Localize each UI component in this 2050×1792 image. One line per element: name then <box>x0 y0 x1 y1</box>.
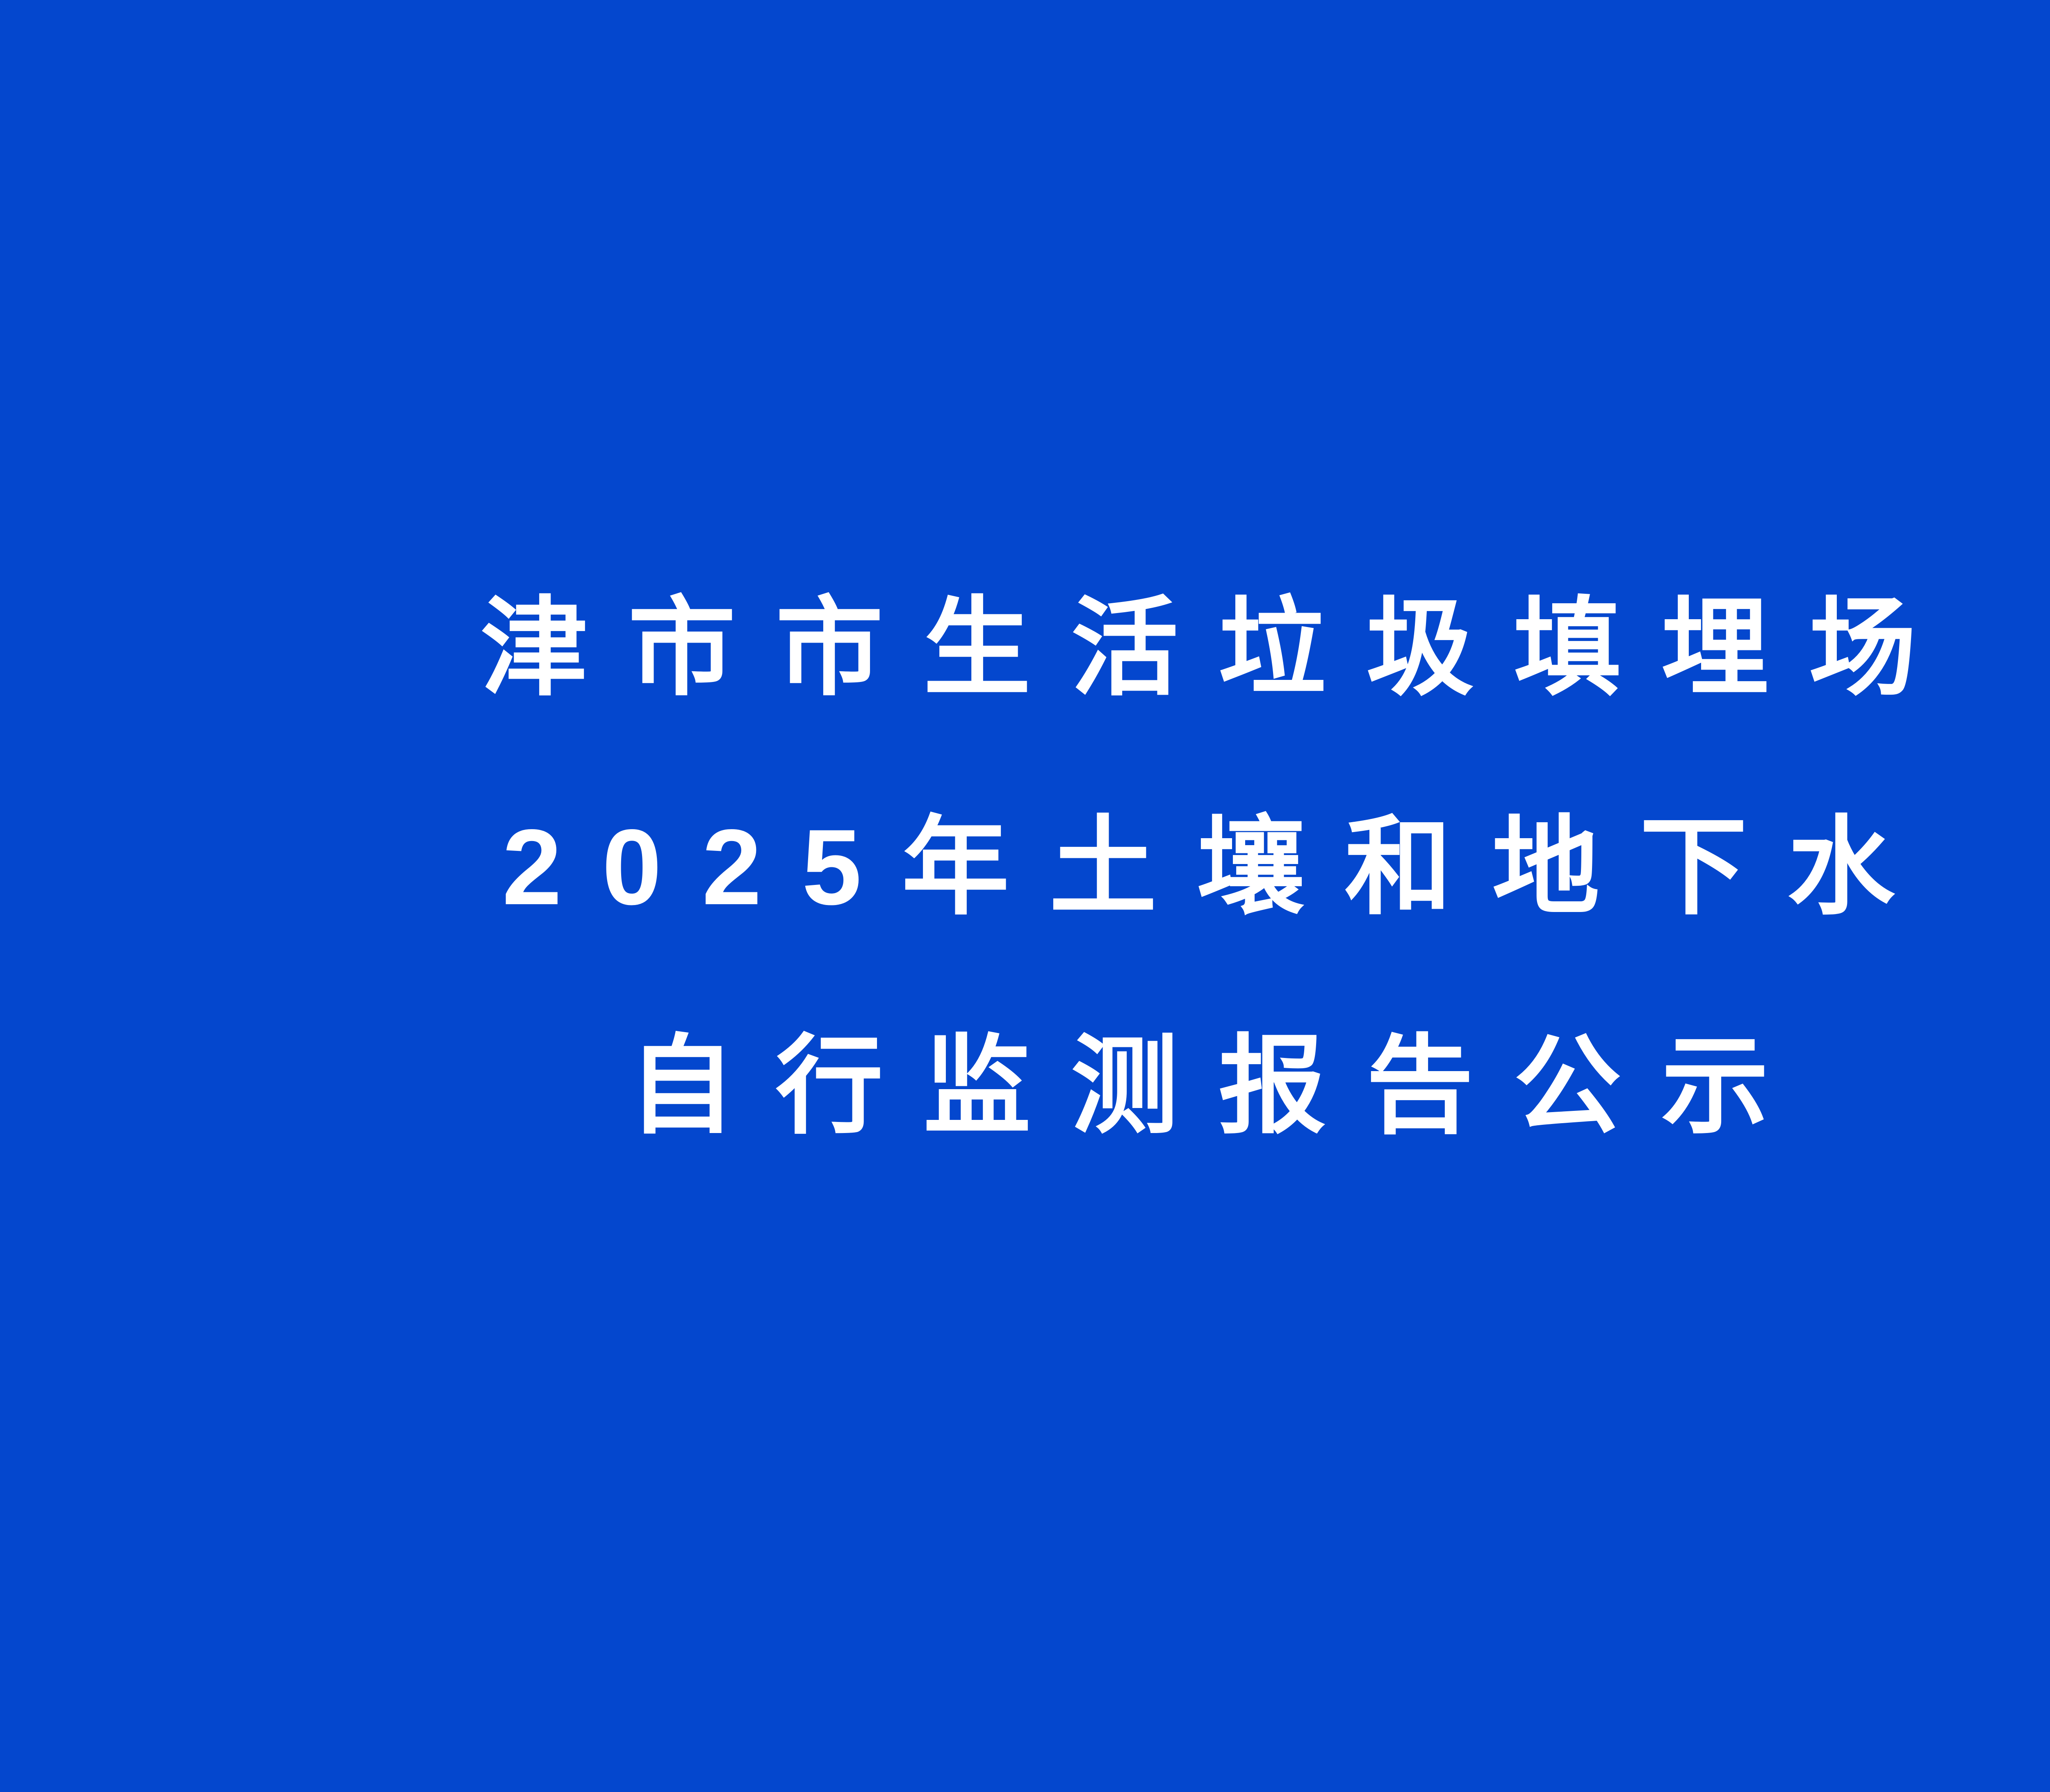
banner-title-block: 津市市生活垃圾填埋场 2025年土壤和地下水 自行监测报告公示 <box>0 595 2050 1140</box>
banner-title-line-1: 津市市生活垃圾填埋场 <box>481 595 1957 702</box>
banner-title-line-3: 自行监测报告公示 <box>628 1033 1809 1140</box>
announcement-banner: 津市市生活垃圾填埋场 2025年土壤和地下水 自行监测报告公示 <box>0 0 2050 1792</box>
banner-title-line-2: 2025年土壤和地下水 <box>502 814 1935 921</box>
